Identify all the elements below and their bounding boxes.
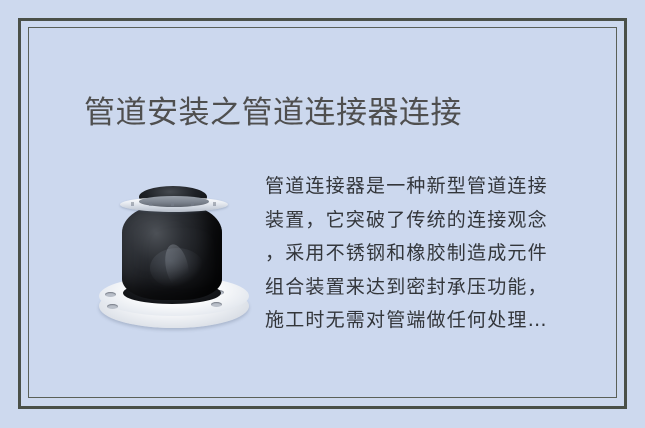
product-image-stage — [87, 180, 262, 340]
flange-tick-icon — [149, 202, 152, 206]
rubber-body-icon — [122, 204, 222, 300]
promo-card: 管道安装之管道连接器连接 — [0, 0, 645, 428]
description-line: 施工时无需对管端做任何处理… — [265, 304, 609, 338]
description-line: ，采用不锈钢和橡胶制造成元件 — [265, 237, 609, 271]
inner-frame: 管道安装之管道连接器连接 — [28, 27, 617, 398]
description-paragraph: 管道连接器是一种新型管道连接 装置，它突破了传统的连接观念 ，采用不锈钢和橡胶制… — [265, 170, 609, 338]
description-line: 管道连接器是一种新型管道连接 — [265, 170, 609, 204]
description-line: 装置，它突破了传统的连接观念 — [265, 204, 609, 238]
flange-tick-icon — [213, 202, 216, 206]
flange-tick-icon — [171, 202, 174, 206]
bolt-hole-icon — [107, 304, 118, 309]
flange-tick-icon — [131, 202, 134, 206]
description-line: 组合装置来达到密封承压功能， — [265, 271, 609, 305]
bolt-hole-icon — [211, 302, 222, 307]
product-image — [87, 180, 262, 340]
bolt-hole-icon — [105, 292, 116, 297]
flange-tick-icon — [191, 202, 194, 206]
page-title: 管道安装之管道连接器连接 — [84, 94, 462, 132]
